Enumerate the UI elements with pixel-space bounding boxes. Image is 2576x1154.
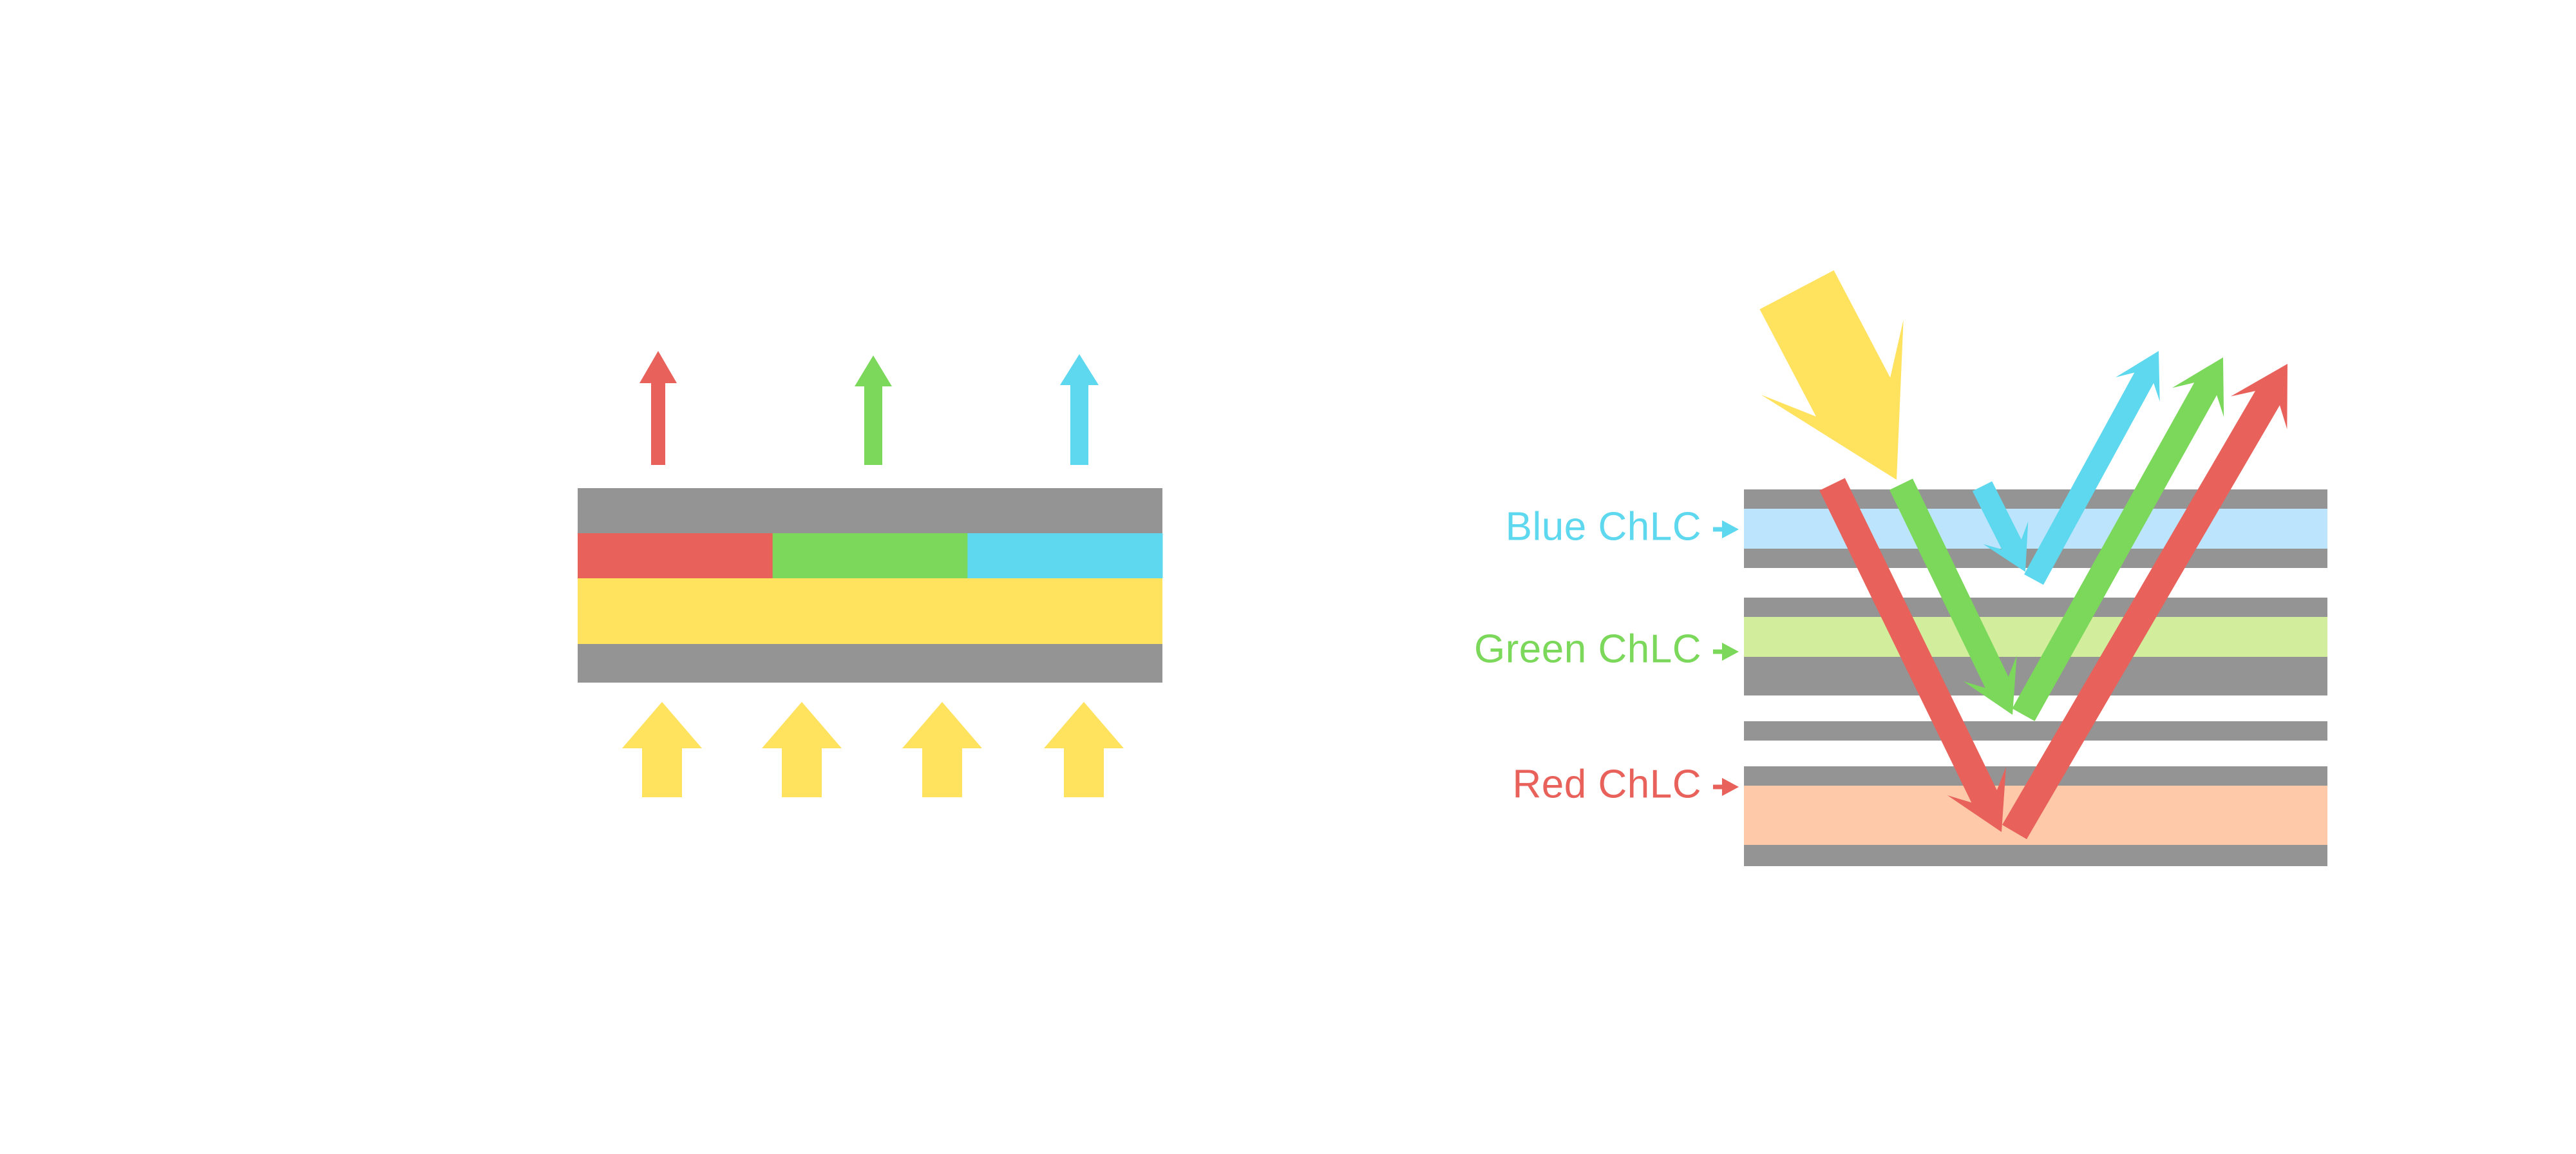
background	[0, 0, 2576, 1154]
red-chlc-group-bottom-gray-layer	[1744, 845, 2327, 866]
green-filter-segment	[773, 533, 968, 578]
separator-gray-2	[1744, 721, 2327, 741]
diagram-svg: Blue ChLCGreen ChLCRed ChLC	[0, 0, 2576, 1154]
label-blue-chlc: Blue ChLC	[1506, 504, 1701, 549]
label-green-chlc: Green ChLC	[1474, 627, 1701, 671]
bottom-gray-layer	[578, 644, 1162, 683]
label-red-chlc: Red ChLC	[1513, 762, 1701, 806]
blue-filter-segment	[967, 533, 1162, 578]
yellow-backlight-layer	[578, 578, 1162, 644]
diagram-canvas: Blue ChLCGreen ChLCRed ChLC	[0, 0, 2576, 1154]
red-filter-segment	[578, 533, 773, 578]
green-chlc-group-top-gray-layer	[1744, 598, 2327, 617]
emissive-stack	[578, 488, 1163, 683]
top-gray-layer	[578, 488, 1162, 533]
green-chlc-group-band	[1744, 617, 2327, 657]
